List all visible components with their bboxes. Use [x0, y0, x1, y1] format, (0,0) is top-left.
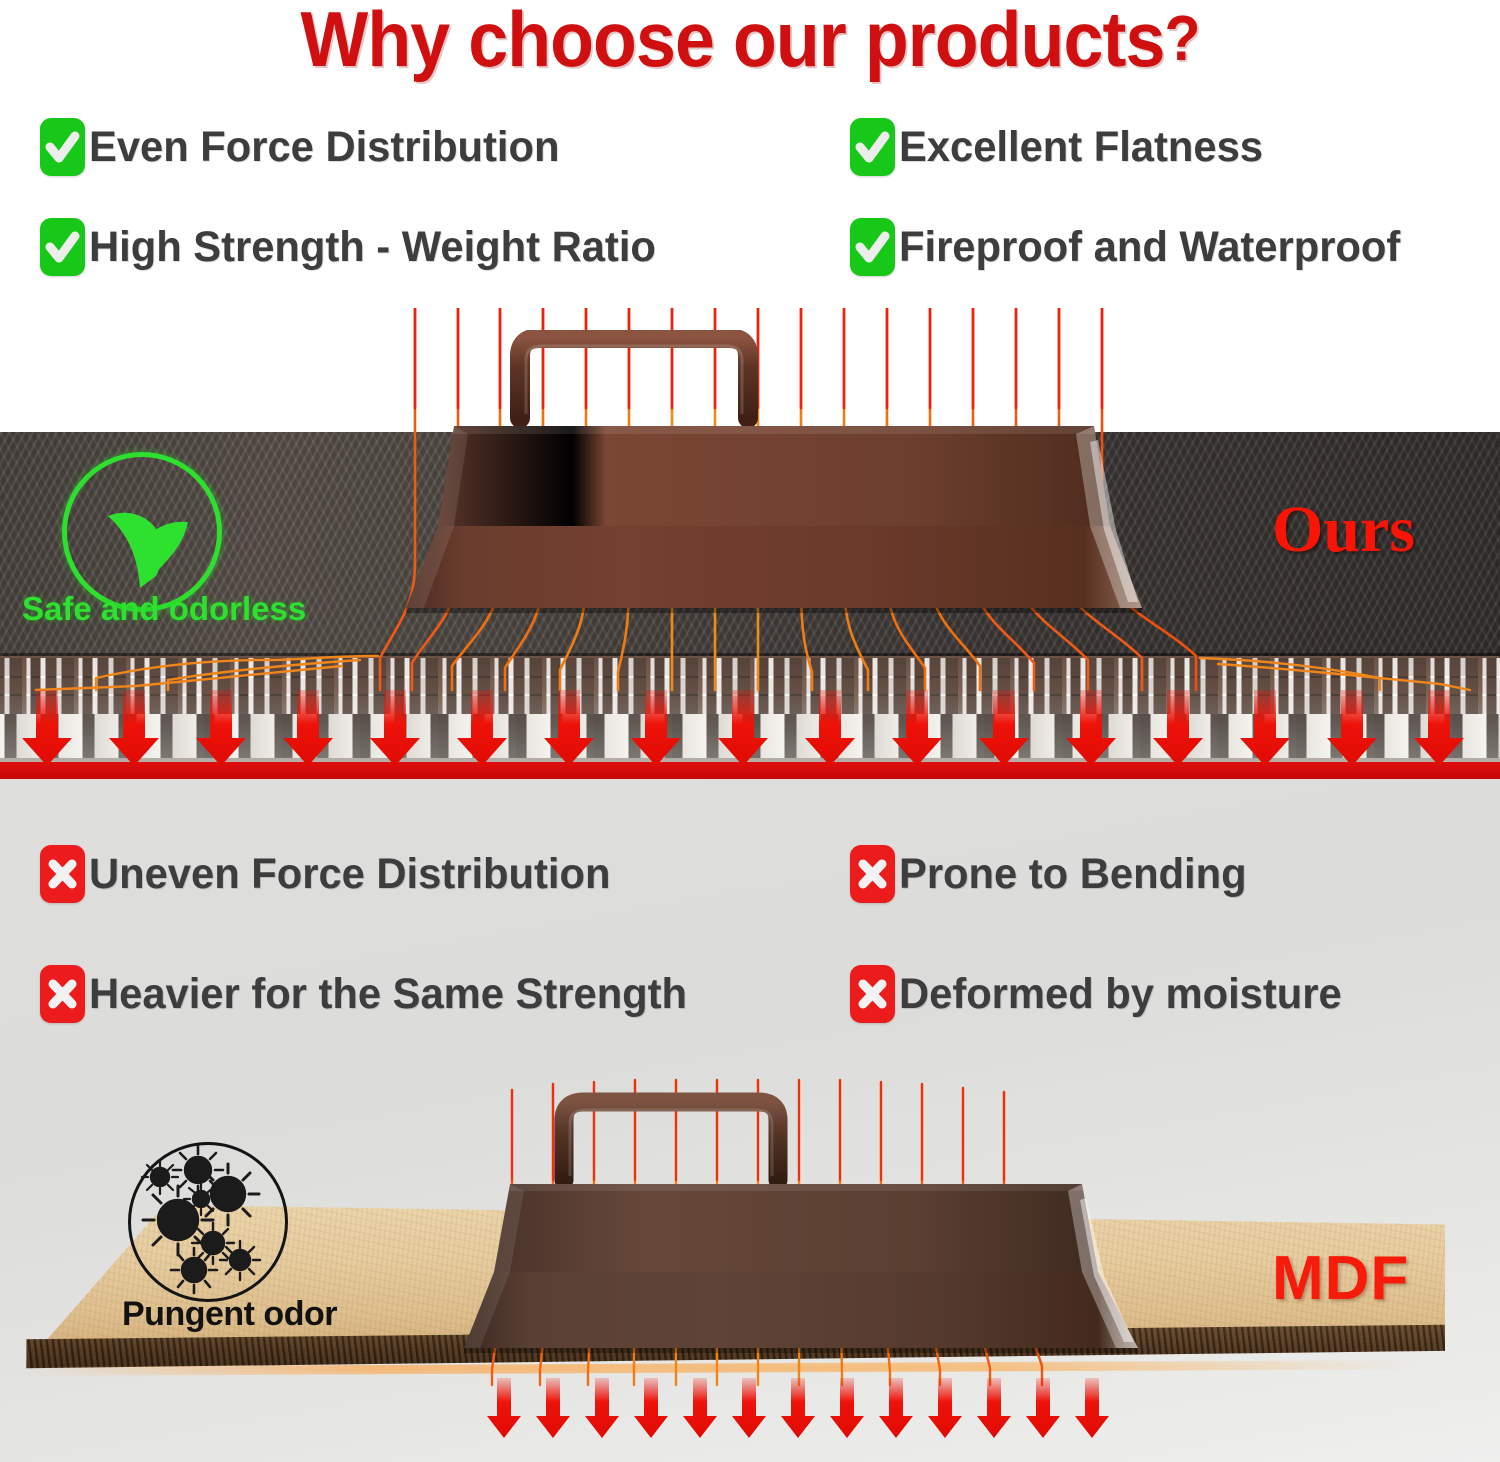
con-item-heavier-for-the-same-strength: Heavier for the Same Strength [40, 965, 706, 1023]
pro-item-label: High Strength - Weight Ratio [89, 223, 656, 272]
eco-badge-caption: Safe and odorless [22, 590, 306, 628]
ours-label: Ours [1272, 492, 1415, 568]
leaf-icon [62, 452, 222, 612]
pro-item-high-strength-weight-ratio: High Strength - Weight Ratio [40, 218, 673, 276]
force-base-bar [0, 762, 1500, 779]
cross-icon [40, 965, 85, 1023]
infographic-canvas: Why choose our products? Even Force Dist… [0, 0, 1500, 1462]
check-icon [40, 218, 85, 276]
honeycomb-core [0, 656, 1500, 764]
pro-item-excellent-flatness: Excellent Flatness [850, 118, 1274, 176]
germs-icon [128, 1142, 288, 1302]
cross-icon [850, 845, 895, 903]
cons-list: Uneven Force Distribution Prone to Bendi… [0, 845, 1500, 1065]
pro-item-label: Excellent Flatness [899, 123, 1263, 172]
pro-item-label: Even Force Distribution [89, 123, 559, 172]
page-title-text: Why choose our products [301, 0, 1165, 83]
pros-row-1: Even Force Distribution Excellent Flatne… [0, 118, 1500, 218]
con-item-deformed-by-moisture: Deformed by moisture [850, 965, 1355, 1023]
con-item-uneven-force-distribution: Uneven Force Distribution [40, 845, 627, 903]
check-icon [850, 118, 895, 176]
cons-row-2: Heavier for the Same Strength Deformed b… [0, 945, 1500, 1065]
pros-list: Even Force Distribution Excellent Flatne… [0, 118, 1500, 318]
page-title-question-mark: ? [1164, 2, 1199, 74]
pro-item-even-force-distribution: Even Force Distribution [40, 118, 574, 176]
odor-badge-caption: Pungent odor [122, 1295, 337, 1334]
check-icon [40, 118, 85, 176]
page-title: Why choose our products? [60, 0, 1440, 85]
pro-item-fireproof-and-waterproof: Fireproof and Waterproof [850, 218, 1416, 276]
check-icon [850, 218, 895, 276]
cons-row-1: Uneven Force Distribution Prone to Bendi… [0, 845, 1500, 945]
honeycomb-cells [0, 714, 1500, 758]
con-item-label: Heavier for the Same Strength [89, 970, 687, 1019]
press-weight-top [398, 330, 1150, 615]
cross-icon [40, 845, 85, 903]
con-item-label: Uneven Force Distribution [89, 850, 610, 899]
con-item-prone-to-bending: Prone to Bending [850, 845, 1257, 903]
con-item-label: Prone to Bending [899, 850, 1247, 899]
cross-icon [850, 965, 895, 1023]
mdf-label: MDF [1272, 1243, 1409, 1314]
con-item-label: Deformed by moisture [899, 970, 1342, 1019]
pro-item-label: Fireproof and Waterproof [899, 223, 1400, 272]
press-weight-bottom [438, 1090, 1150, 1358]
pros-row-2: High Strength - Weight Ratio Fireproof a… [0, 218, 1500, 318]
